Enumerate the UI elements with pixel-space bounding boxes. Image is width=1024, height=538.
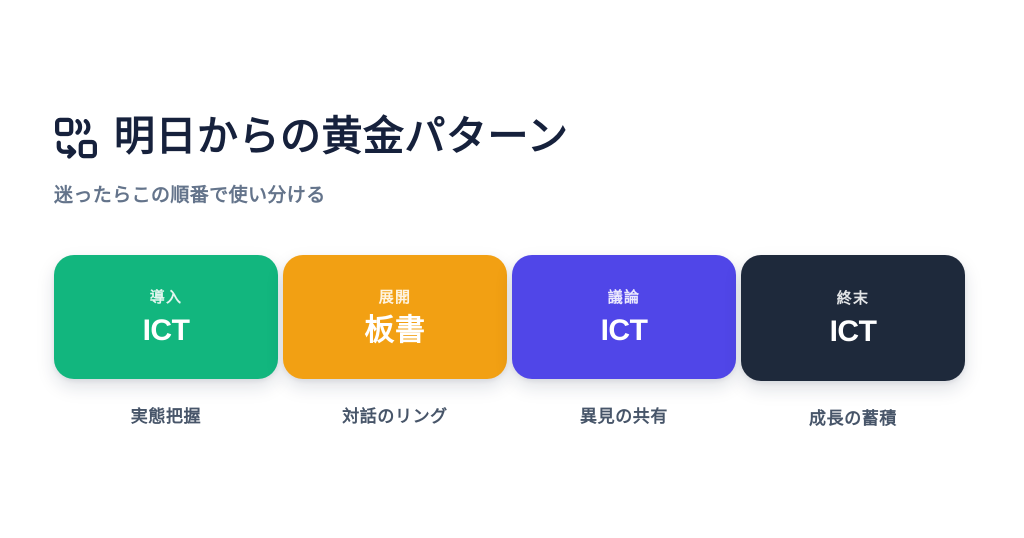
page-title: 明日からの黄金パターン bbox=[114, 114, 568, 160]
card-tool-label: ICT bbox=[830, 317, 877, 347]
slide-canvas: 明日からの黄金パターン 迷ったらこの順番で使い分ける 導入 ICT 実態把握 展… bbox=[0, 0, 1024, 538]
card-caption: 対話のリング bbox=[342, 402, 448, 427]
card-tool-label: ICT bbox=[143, 316, 190, 346]
card-column-2: 展開 板書 対話のリング bbox=[283, 255, 507, 427]
card-tool-label: 板書 bbox=[365, 316, 426, 346]
card-column-3: 議論 ICT 異見の共有 bbox=[512, 255, 736, 427]
card-stage-label: 終末 bbox=[837, 291, 869, 306]
card-column-4: 終末 ICT 成長の蓄積 bbox=[741, 255, 965, 429]
card-introduction[interactable]: 導入 ICT bbox=[54, 255, 278, 379]
card-stage-label: 導入 bbox=[150, 290, 182, 305]
transfer-pattern-icon bbox=[54, 116, 98, 160]
card-conclusion[interactable]: 終末 ICT bbox=[741, 255, 965, 381]
card-stage-label: 展開 bbox=[379, 290, 411, 305]
card-caption: 異見の共有 bbox=[580, 402, 668, 427]
card-caption: 成長の蓄積 bbox=[809, 404, 897, 429]
card-discussion[interactable]: 議論 ICT bbox=[512, 255, 736, 379]
card-stage-label: 議論 bbox=[608, 290, 640, 305]
card-tool-label: ICT bbox=[601, 316, 648, 346]
card-column-1: 導入 ICT 実態把握 bbox=[54, 255, 278, 427]
card-development[interactable]: 展開 板書 bbox=[283, 255, 507, 379]
title-row: 明日からの黄金パターン bbox=[54, 108, 974, 166]
page-subtitle: 迷ったらこの順番で使い分ける bbox=[54, 180, 974, 207]
card-caption: 実態把握 bbox=[131, 402, 201, 427]
slide-header: 明日からの黄金パターン 迷ったらこの順番で使い分ける bbox=[54, 108, 974, 207]
pattern-card-row: 導入 ICT 実態把握 展開 板書 対話のリング 議論 ICT 異見の共有 終末… bbox=[54, 255, 974, 429]
